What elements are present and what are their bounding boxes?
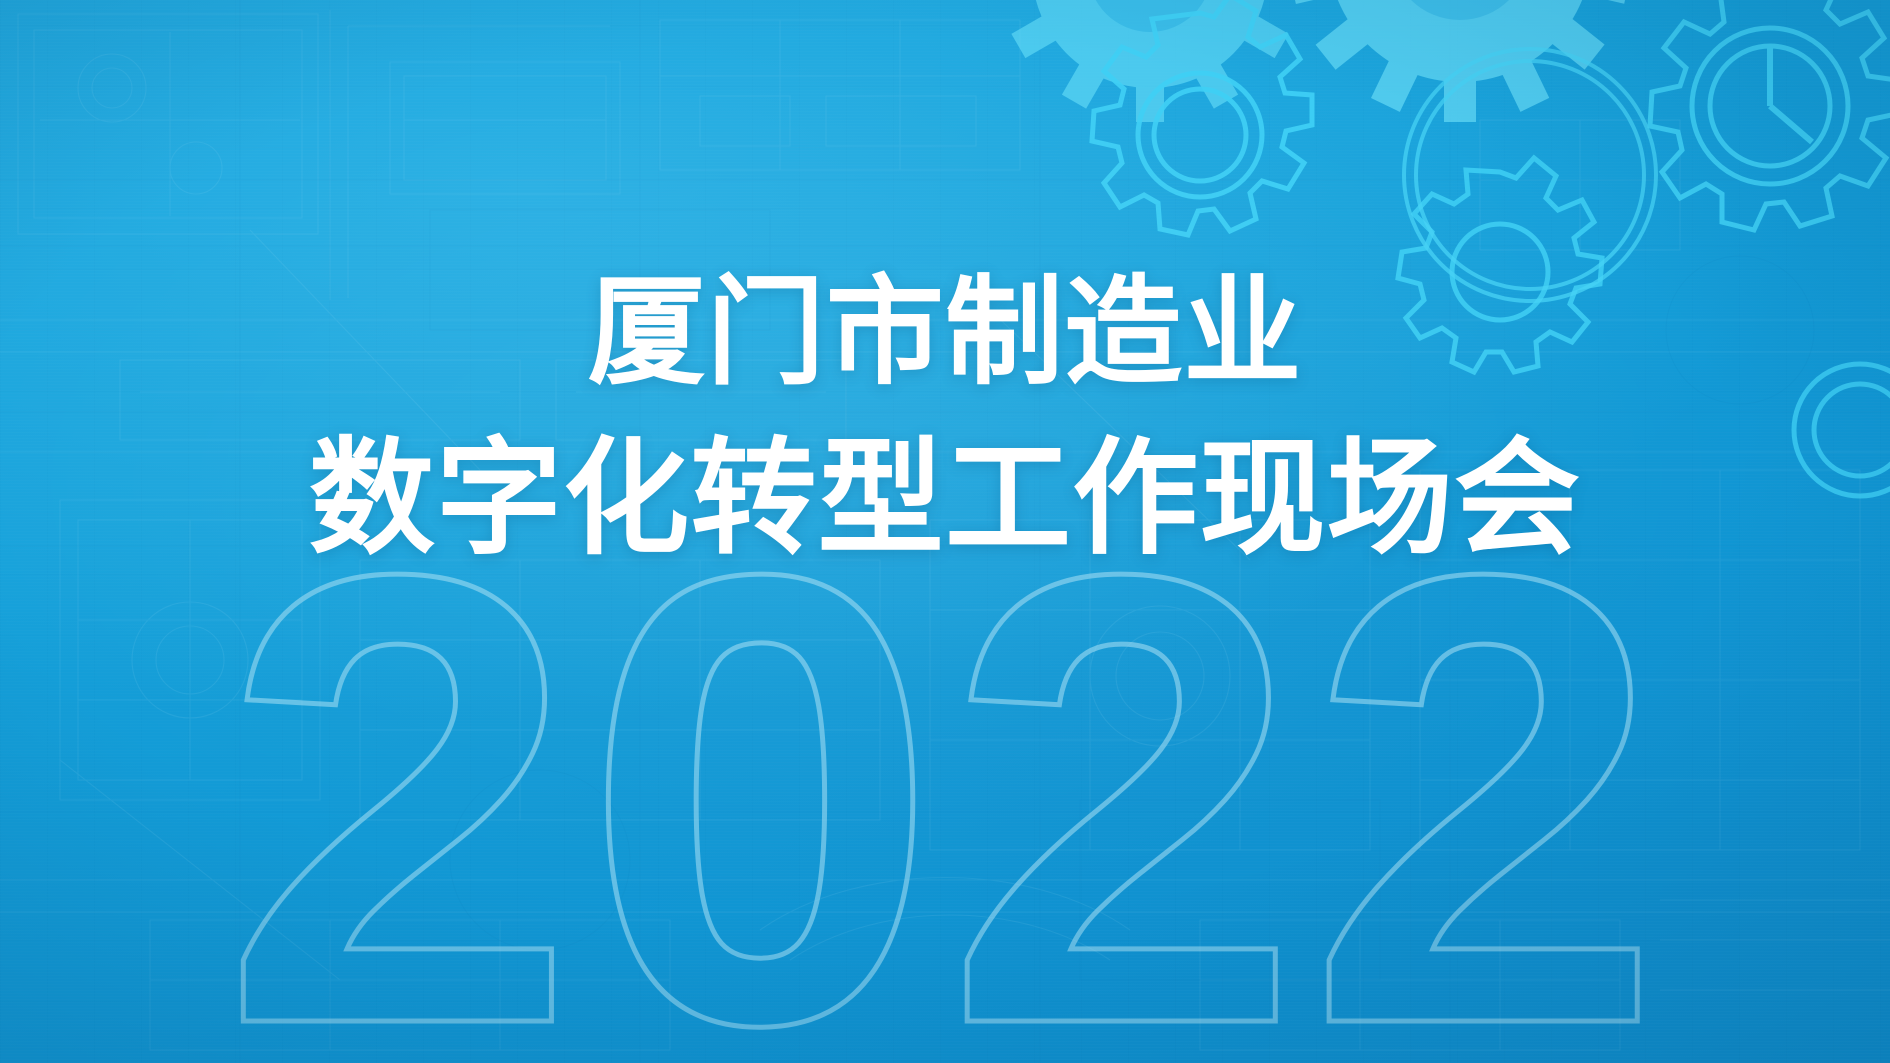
poster-title-line-2: 数字化转型工作现场会 xyxy=(0,425,1890,574)
poster-title-line-1: 厦门市制造业 xyxy=(0,264,1890,403)
poster-title-block: 厦门市制造业 数字化转型工作现场会 xyxy=(0,264,1890,574)
poster-canvas: 2022 厦门市制造业 数字化转型工作现场会 xyxy=(0,0,1890,1063)
